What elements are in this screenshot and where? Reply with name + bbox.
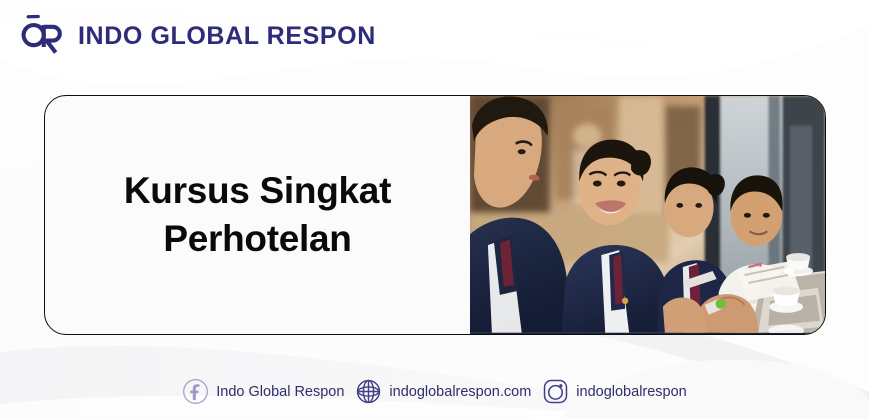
footer-item-facebook[interactable]: Indo Global Respon bbox=[182, 378, 355, 405]
hero-card: Kursus Singkat Perhotelan bbox=[44, 95, 826, 335]
footer: Indo Global Respon indoglobalrespon.com … bbox=[0, 378, 869, 405]
card-title-line-1: Kursus Singkat bbox=[124, 170, 391, 211]
igr-monogram-icon bbox=[18, 14, 64, 58]
card-text-panel: Kursus Singkat Perhotelan bbox=[45, 96, 470, 334]
card-image-panel bbox=[470, 96, 825, 334]
card-title: Kursus Singkat Perhotelan bbox=[124, 167, 391, 263]
brand-name: INDO GLOBAL RESPON bbox=[78, 22, 376, 51]
globe-icon bbox=[355, 378, 382, 405]
facebook-icon bbox=[182, 378, 209, 405]
footer-label-facebook: Indo Global Respon bbox=[216, 384, 344, 400]
footer-label-website: indoglobalrespon.com bbox=[389, 384, 531, 400]
footer-label-instagram: indoglobalrespon bbox=[576, 384, 686, 400]
card-title-line-2: Perhotelan bbox=[163, 218, 351, 259]
instagram-icon bbox=[542, 378, 569, 405]
footer-item-instagram[interactable]: indoglobalrespon bbox=[542, 378, 686, 405]
header: INDO GLOBAL RESPON bbox=[0, 0, 869, 72]
footer-item-website[interactable]: indoglobalrespon.com bbox=[355, 378, 542, 405]
hospitality-students-photo bbox=[470, 96, 825, 333]
